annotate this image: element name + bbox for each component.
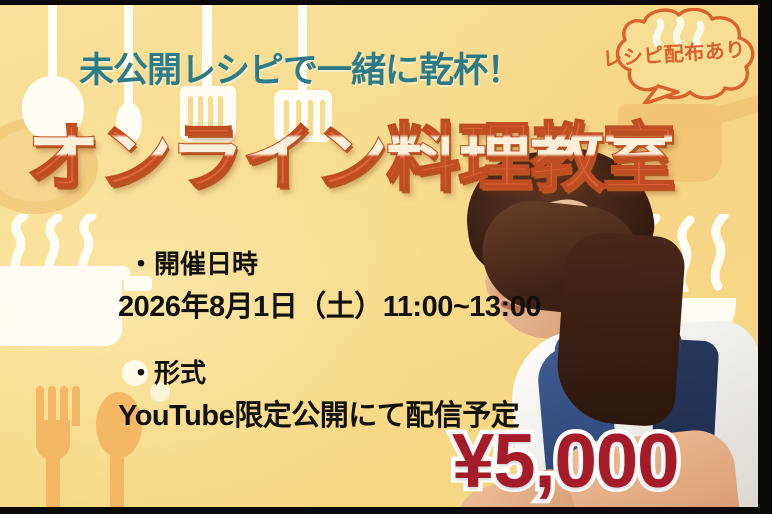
edge-band-top <box>0 0 772 5</box>
poster-title: オンライン料理教室 <box>0 98 700 205</box>
edge-band-right <box>758 0 772 514</box>
recipe-badge-label: レシピ配布あり <box>583 2 765 102</box>
details-block: ・開催日時 2026年8月1日（土）11:00~13:00 ・形式 YouTub… <box>118 244 541 434</box>
recipe-badge: レシピ配布あり <box>586 8 762 104</box>
detail-heading-date: ・開催日時 <box>128 244 541 281</box>
detail-value-date: 2026年8月1日（土）11:00~13:00 <box>118 283 541 325</box>
poster-canvas: 未公開レシピで一緒に乾杯！ オンライン料理教室 オンライン料理教室 レシピ配布あ… <box>0 0 772 514</box>
fork-icon <box>26 386 82 514</box>
poster-subtitle: 未公開レシピで一緒に乾杯！ <box>0 42 600 93</box>
edge-band-bottom <box>0 507 772 514</box>
detail-heading-format: ・形式 <box>128 353 541 390</box>
price-outline: ¥5,000 <box>452 418 678 505</box>
